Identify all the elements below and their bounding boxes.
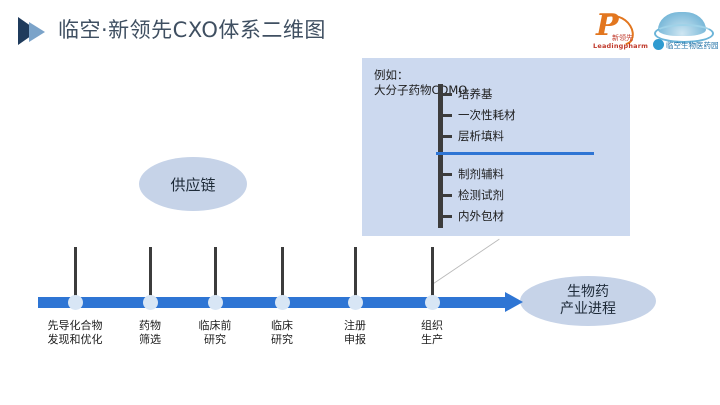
timeline-node-3[interactable] [275, 295, 290, 310]
timeline-label-4: 注册 申报 [344, 319, 366, 347]
timeline-label-line1: 先导化合物 [48, 319, 103, 332]
tick-mark-icon [443, 93, 452, 96]
page-title: 临空·新领先CXO体系二维图 [58, 14, 326, 44]
leadingpharm-en-name: Leadingpharm [593, 42, 648, 50]
timeline-arrow-icon [505, 292, 523, 312]
timeline-stem-3 [281, 247, 284, 302]
triangle-front-shape [29, 22, 45, 42]
timeline-label-line2: 生产 [421, 333, 443, 346]
timeline-stem-2 [214, 247, 217, 302]
callout-intro: 例如： 大分子药物CDMO [374, 68, 467, 98]
tick-mark-icon [443, 135, 452, 138]
timeline-label-line1: 组织 [421, 319, 443, 332]
timeline-label-line2: 申报 [344, 333, 366, 346]
timeline-label-0: 先导化合物 发现和优化 [48, 319, 103, 347]
logo-badge-icon [653, 39, 664, 50]
leadingpharm-logo: P 新领先 Leadingpharm [590, 11, 648, 53]
triangle-play-logo-icon [16, 16, 60, 46]
linkong-cn-name: 临空生物医药园 [666, 40, 719, 51]
supply-chain-bubble: 供应链 [139, 157, 247, 211]
timeline-label-3: 临床 研究 [271, 319, 293, 347]
timeline-label-5: 组织 生产 [421, 319, 443, 347]
linkong-biopark-logo: 临空生物医药园 [652, 10, 714, 54]
timeline-node-1[interactable] [143, 295, 158, 310]
tick-mark-icon [443, 194, 452, 197]
bioprocess-label: 生物药 产业进程 [560, 284, 616, 318]
timeline-stem-1 [149, 247, 152, 302]
callout-item-label: 培养基 [458, 86, 493, 102]
timeline-label-line2: 研究 [204, 333, 226, 346]
timeline-stem-5 [431, 247, 434, 302]
timeline-stem-0 [74, 247, 77, 302]
slide-canvas: 临空·新领先CXO体系二维图 P 新领先 Leadingpharm 临空生物医药… [0, 0, 720, 405]
leader-line [430, 236, 510, 292]
timeline-label-line1: 临床 [271, 319, 293, 332]
timeline-node-4[interactable] [348, 295, 363, 310]
bioprocess-bubble: 生物药 产业进程 [520, 276, 656, 326]
timeline-label-line2: 筛选 [139, 333, 161, 346]
timeline-node-2[interactable] [208, 295, 223, 310]
callout-intro-line2: 大分子药物CDMO [374, 83, 467, 98]
timeline-node-0[interactable] [68, 295, 83, 310]
timeline-node-5[interactable] [425, 295, 440, 310]
timeline-label-line2: 发现和优化 [48, 333, 103, 346]
timeline-stem-4 [354, 247, 357, 302]
tick-mark-icon [443, 215, 452, 218]
timeline-label-2: 临床前 研究 [199, 319, 232, 347]
callout-item-label: 检测试剂 [458, 187, 504, 203]
callout-item-label: 内外包材 [458, 208, 504, 224]
callout-item-label: 一次性耗材 [458, 107, 516, 123]
callout-item-label: 层析填料 [458, 128, 504, 144]
timeline-label-line1: 注册 [344, 319, 366, 332]
tick-mark-icon [443, 114, 452, 117]
timeline-label-1: 药物 筛选 [139, 319, 161, 347]
bioprocess-line1: 生物药 [567, 284, 609, 300]
callout-intro-line1: 例如： [374, 68, 409, 82]
supply-chain-label: 供应链 [170, 174, 215, 195]
timeline-label-line2: 研究 [271, 333, 293, 346]
timeline-label-line1: 临床前 [199, 319, 232, 332]
callout-cross-line [436, 152, 594, 155]
tick-mark-icon [443, 173, 452, 176]
callout-item-label: 制剂辅料 [458, 166, 504, 182]
timeline-label-line1: 药物 [139, 319, 161, 332]
bioprocess-line2: 产业进程 [560, 301, 616, 317]
callout-spine [438, 84, 443, 228]
